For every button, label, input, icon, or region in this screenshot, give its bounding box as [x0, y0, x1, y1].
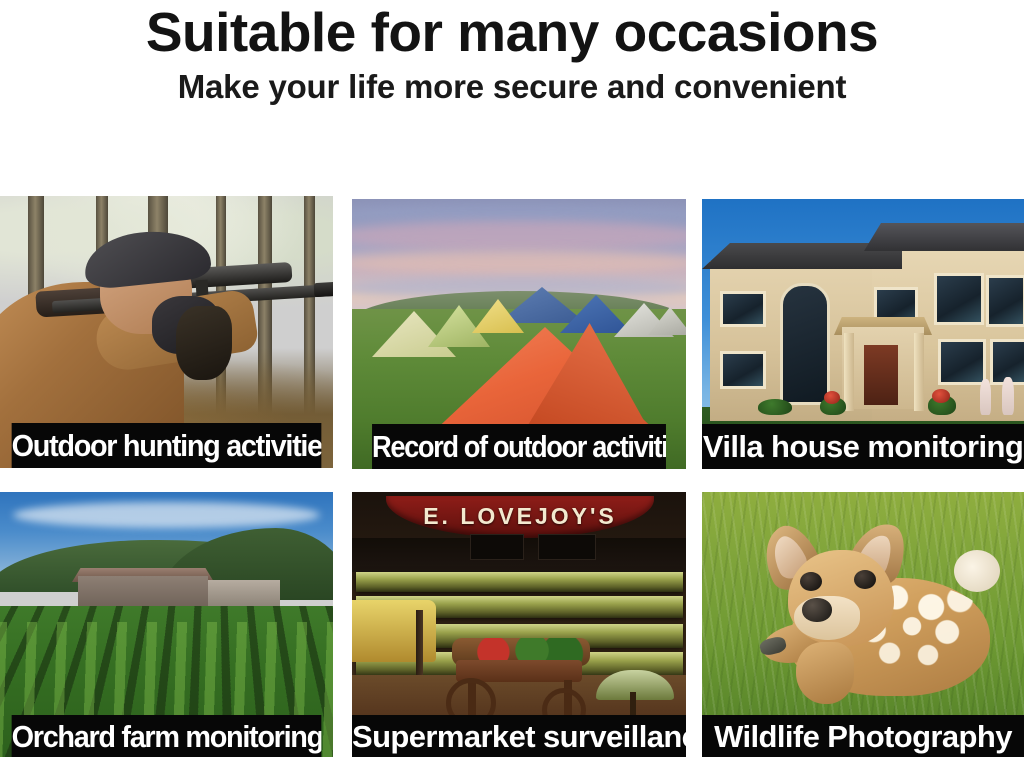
- shrub-shape: [758, 399, 792, 415]
- panel-outdoor-hunting[interactable]: Outdoor hunting activities: [0, 196, 333, 468]
- portico-column-shape: [844, 333, 854, 411]
- panel-supermarket-surveillance[interactable]: E. LOVEJOY'S Supermarket surveillance: [352, 492, 686, 757]
- fawn-eye-shape: [800, 572, 822, 591]
- villa-window-shape: [934, 273, 984, 325]
- menu-board-shape: [538, 534, 596, 560]
- panel-caption: Wildlife Photography: [702, 715, 1024, 757]
- portico-column-shape: [914, 333, 924, 411]
- flowerbed-shape: [824, 391, 840, 404]
- villa-window-shape: [986, 275, 1024, 327]
- page-subtitle: Make your life more secure and convenien…: [0, 62, 1024, 105]
- hunter-forehand-shape: [176, 306, 232, 380]
- panel-villa-monitoring[interactable]: Villa house monitoring: [702, 199, 1024, 469]
- fawn-front-leg-shape: [796, 642, 854, 704]
- panel-caption: Record of outdoor activities: [372, 424, 666, 469]
- store-sign-label: E. LOVEJOY'S: [386, 500, 654, 532]
- villa-arched-window-shape: [780, 283, 830, 405]
- shed-shape: [208, 580, 280, 608]
- produce-display-shape: [352, 600, 436, 662]
- produce-shelf-shape: [356, 572, 683, 592]
- villa-window-shape: [720, 291, 766, 327]
- panel-caption: Villa house monitoring: [702, 424, 1024, 469]
- person-shape: [980, 379, 991, 415]
- occasions-grid: Outdoor hunting activities Record of out…: [0, 196, 1024, 757]
- menu-board-shape: [470, 534, 524, 560]
- panel-orchard-farm[interactable]: Orchard farm monitoring: [0, 492, 333, 757]
- cloud-shape: [13, 502, 319, 528]
- villa-window-shape: [720, 351, 766, 389]
- page-header: Suitable for many occasions Make your li…: [0, 0, 1024, 190]
- person-shape: [1002, 377, 1014, 415]
- panel-caption: Supermarket surveillance: [352, 715, 686, 757]
- fawn-nose-shape: [802, 598, 832, 622]
- rifle-muzzle-shape: [314, 281, 333, 297]
- panel-caption: Orchard farm monitoring: [12, 715, 322, 757]
- panel-record-outdoor[interactable]: Record of outdoor activities: [352, 199, 686, 469]
- panel-caption: Outdoor hunting activities: [12, 423, 322, 468]
- flowerbed-shape: [932, 389, 950, 403]
- cloud-shape: [352, 221, 686, 251]
- villa-roof-right-shape: [864, 223, 1024, 251]
- fawn-tail-shape: [954, 550, 1000, 592]
- panel-wildlife-photography[interactable]: Wildlife Photography: [702, 492, 1024, 757]
- page-title: Suitable for many occasions: [0, 0, 1024, 62]
- cloud-shape: [352, 251, 686, 275]
- villa-window-shape: [938, 339, 986, 385]
- fawn-eye-shape: [854, 570, 876, 589]
- villa-front-door-shape: [864, 345, 898, 405]
